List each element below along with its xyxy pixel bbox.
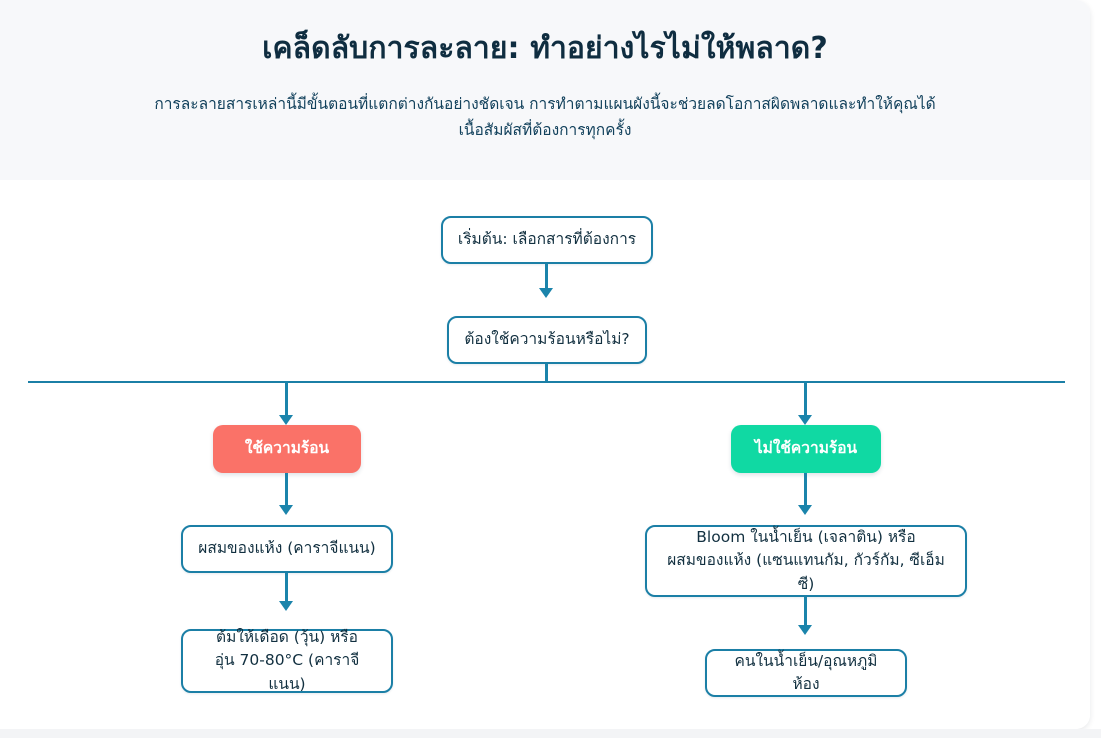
- flow-node-no-heat-step-1[interactable]: Bloom ในน้ำเย็น (เจลาติน) หรือ ผสมของแห้…: [645, 525, 967, 597]
- connector-branch-to-no-heat: [804, 381, 807, 416]
- flow-node-heat[interactable]: ใช้ความร้อน: [213, 425, 361, 473]
- flow-node-heat-step-2[interactable]: ต้มให้เดือด (วุ้น) หรือ อุ่น 70-80°C (คา…: [181, 629, 393, 693]
- branch-bar: [28, 381, 1065, 383]
- flowchart-canvas: เริ่มต้น: เลือกสารที่ต้องการ ต้องใช้ความ…: [0, 180, 1090, 729]
- arrowhead-no-heat-step1-to-step2-icon: [798, 625, 812, 635]
- connector-decision-to-branch: [545, 364, 548, 381]
- flow-node-no-heat-step-1-line-1: Bloom ในน้ำเย็น (เจลาติน) หรือ: [696, 526, 915, 549]
- flow-node-no-heat-label: ไม่ใช้ความร้อน: [755, 437, 857, 460]
- flow-node-decision-label: ต้องใช้ความร้อนหรือไม่?: [464, 328, 629, 351]
- arrowhead-branch-to-no-heat-icon: [798, 415, 812, 425]
- arrowhead-no-heat-to-step1-icon: [798, 505, 812, 515]
- connector-no-heat-to-step1: [804, 473, 807, 506]
- page-root: เคล็ดลับการละลาย: ทำอย่างไรไม่ให้พลาด? ก…: [0, 0, 1101, 738]
- arrowhead-branch-to-heat-icon: [279, 415, 293, 425]
- arrowhead-heat-step1-to-step2-icon: [279, 601, 293, 611]
- arrowhead-heat-to-step1-icon: [279, 505, 293, 515]
- arrowhead-start-to-decision-icon: [539, 288, 553, 298]
- flow-node-no-heat[interactable]: ไม่ใช้ความร้อน: [731, 425, 881, 473]
- connector-no-heat-step1-to-step2: [804, 597, 807, 626]
- connector-heat-to-step1: [285, 473, 288, 506]
- flow-node-no-heat-step-1-line-2: ผสมของแห้ง (แซนแทนกัม, กัวร์กัม, ซีเอ็มซ…: [661, 549, 951, 596]
- connector-start-to-decision: [545, 264, 548, 289]
- connector-branch-to-heat: [285, 381, 288, 416]
- connector-heat-step1-to-step2: [285, 573, 288, 602]
- flow-node-no-heat-step-2[interactable]: คนในน้ำเย็น/อุณหภูมิห้อง: [705, 649, 907, 697]
- flow-node-start[interactable]: เริ่มต้น: เลือกสารที่ต้องการ: [441, 216, 653, 264]
- flow-node-decision[interactable]: ต้องใช้ความร้อนหรือไม่?: [447, 316, 647, 364]
- flow-node-start-label: เริ่มต้น: เลือกสารที่ต้องการ: [458, 228, 636, 251]
- flow-node-heat-step-1-label: ผสมของแห้ง (คาราจีแนน): [198, 537, 375, 560]
- flow-node-no-heat-step-2-label: คนในน้ำเย็น/อุณหภูมิห้อง: [721, 650, 891, 697]
- flow-node-heat-step-2-line-1: ต้มให้เดือด (วุ้น) หรือ: [216, 626, 358, 649]
- page-bottom-strip: [0, 729, 1101, 738]
- content-card: เคล็ดลับการละลาย: ทำอย่างไรไม่ให้พลาด? ก…: [0, 0, 1090, 729]
- flow-node-heat-step-1[interactable]: ผสมของแห้ง (คาราจีแนน): [181, 525, 393, 573]
- flow-node-heat-label: ใช้ความร้อน: [245, 437, 329, 460]
- page-title: เคล็ดลับการละลาย: ทำอย่างไรไม่ให้พลาด?: [0, 30, 1090, 68]
- flow-node-heat-step-2-line-2: อุ่น 70-80°C (คาราจีแนน): [197, 649, 377, 696]
- page-subtitle: การละลายสารเหล่านี้มีขั้นตอนที่แตกต่างกั…: [150, 92, 940, 142]
- page-header: เคล็ดลับการละลาย: ทำอย่างไรไม่ให้พลาด? ก…: [0, 0, 1090, 180]
